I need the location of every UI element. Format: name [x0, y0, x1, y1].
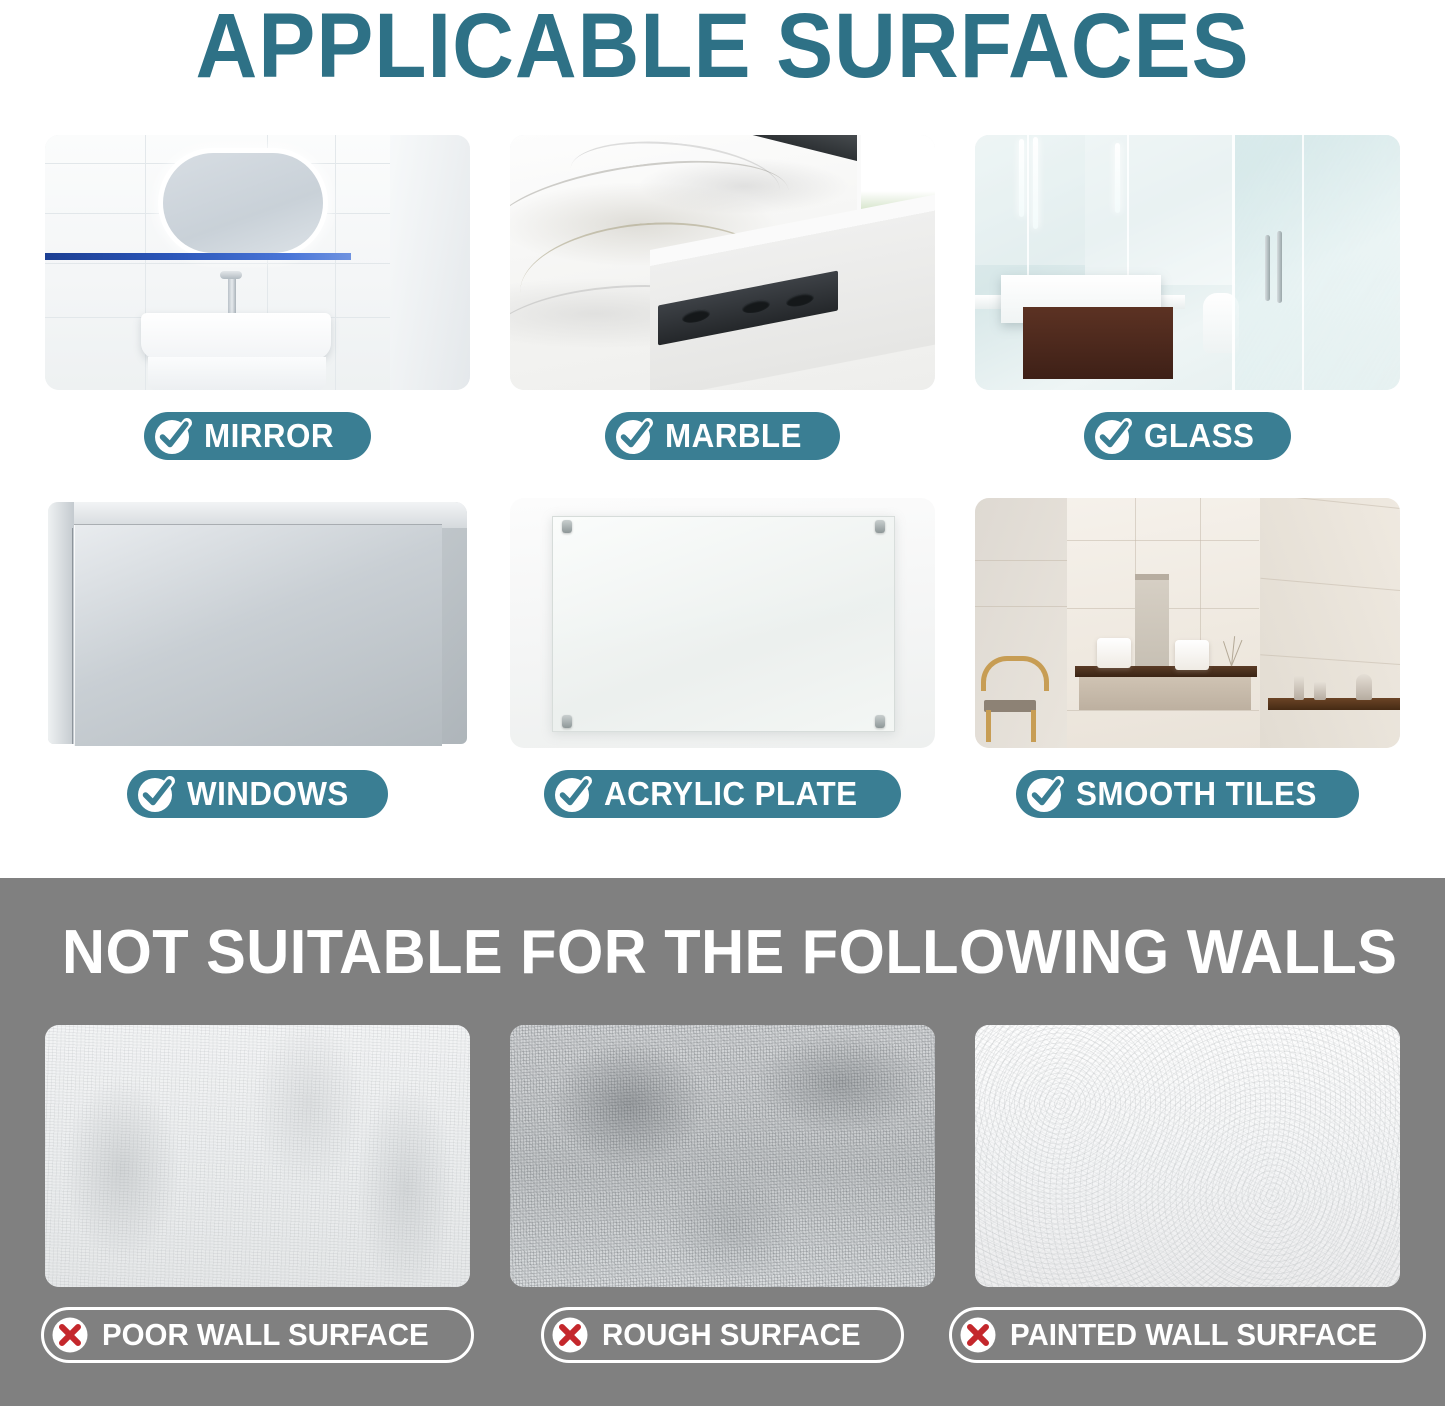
photo-glass-bathroom	[975, 135, 1400, 390]
badge-label: GLASS	[1144, 419, 1254, 454]
surface-card-acrylic[interactable]: ACRYLIC PLATE	[510, 498, 935, 818]
surface-card-marble[interactable]: MARBLE	[510, 135, 935, 460]
unsuitable-grid-row: POOR WALL SURFACE ROUGH SURFACE	[45, 1025, 1400, 1363]
check-icon	[613, 416, 653, 456]
badge-mirror[interactable]: MIRROR	[144, 412, 371, 460]
badge-acrylic-plate[interactable]: ACRYLIC PLATE	[544, 770, 901, 818]
badge-label: ACRYLIC PLATE	[604, 777, 857, 812]
badge-poor-wall-surface[interactable]: POOR WALL SURFACE	[41, 1307, 475, 1363]
check-icon	[1092, 416, 1132, 456]
surface-card-mirror[interactable]: MIRROR	[45, 135, 470, 460]
photo-poor-concrete	[45, 1025, 470, 1287]
not-suitable-title: NOT SUITABLE FOR THE FOLLOWING WALLS	[62, 918, 1397, 988]
photo-marble-kitchen	[510, 135, 935, 390]
check-icon	[152, 416, 192, 456]
surface-card-glass[interactable]: GLASS	[975, 135, 1400, 460]
check-icon	[552, 774, 592, 814]
check-icon	[135, 774, 175, 814]
badge-windows[interactable]: WINDOWS	[127, 770, 387, 818]
applicable-surfaces-section: APPLICABLE SURFACES	[0, 0, 1445, 878]
badge-smooth-tiles[interactable]: SMOOTH TILES	[1016, 770, 1360, 818]
cross-icon	[958, 1315, 998, 1355]
badge-glass[interactable]: GLASS	[1084, 412, 1290, 460]
photo-metal-window	[45, 498, 470, 748]
unsuitable-card-painted-wall[interactable]: PAINTED WALL SURFACE	[975, 1025, 1400, 1363]
unsuitable-card-poor-wall[interactable]: POOR WALL SURFACE	[45, 1025, 470, 1363]
photo-rough-concrete	[510, 1025, 935, 1287]
cross-icon	[50, 1315, 90, 1355]
badge-label: MARBLE	[665, 419, 802, 454]
surface-grid-row-1: MIRROR	[45, 135, 1400, 460]
surface-card-smooth-tiles[interactable]: SMOOTH TILES	[975, 498, 1400, 818]
badge-label: PAINTED WALL SURFACE	[1010, 1319, 1377, 1352]
badge-painted-wall-surface[interactable]: PAINTED WALL SURFACE	[949, 1307, 1425, 1363]
badge-label: MIRROR	[204, 419, 334, 454]
badge-label: WINDOWS	[187, 777, 349, 812]
unsuitable-card-rough[interactable]: ROUGH SURFACE	[510, 1025, 935, 1363]
badge-rough-surface[interactable]: ROUGH SURFACE	[541, 1307, 903, 1363]
surface-grid-row-2: WINDOWS	[45, 498, 1400, 818]
badge-marble[interactable]: MARBLE	[605, 412, 839, 460]
surface-card-windows[interactable]: WINDOWS	[45, 498, 470, 818]
badge-label: SMOOTH TILES	[1076, 777, 1317, 812]
photo-bathroom-mirror	[45, 135, 470, 390]
photo-acrylic-plate	[510, 498, 935, 748]
photo-painted-stucco	[975, 1025, 1400, 1287]
cross-icon	[550, 1315, 590, 1355]
check-icon	[1024, 774, 1064, 814]
badge-label: POOR WALL SURFACE	[102, 1319, 429, 1352]
badge-label: ROUGH SURFACE	[602, 1319, 861, 1352]
photo-tiled-bathroom	[975, 498, 1400, 748]
not-suitable-section: NOT SUITABLE FOR THE FOLLOWING WALLS POO…	[0, 878, 1445, 1406]
page-title: APPLICABLE SURFACES	[51, 0, 1395, 98]
